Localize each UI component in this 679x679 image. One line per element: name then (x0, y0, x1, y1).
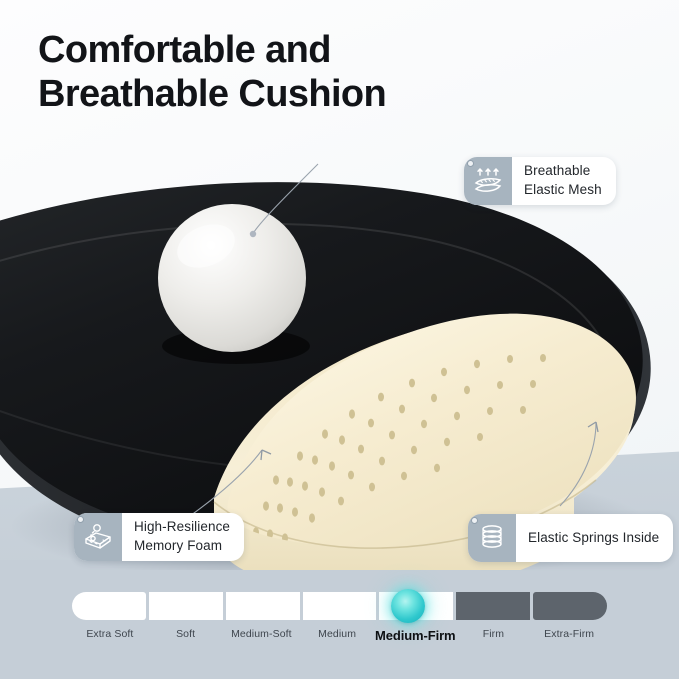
callout-label: Elastic Springs Inside (516, 514, 673, 562)
callout-label: High-Resilience Memory Foam (122, 513, 244, 561)
callout-memory-foam[interactable]: High-Resilience Memory Foam (74, 513, 244, 561)
firmness-scale-labels: Extra Soft Soft Medium-Soft Medium Mediu… (72, 628, 607, 648)
firmness-label-extra-soft[interactable]: Extra Soft (72, 628, 148, 648)
breathable-mesh-icon (464, 157, 512, 205)
callout-anchor-dot (472, 518, 477, 523)
product-illustration (0, 150, 679, 570)
pressure-ball (158, 204, 306, 352)
firmness-segment-medium[interactable] (303, 592, 377, 620)
firmness-label-soft[interactable]: Soft (148, 628, 224, 648)
firmness-segment-soft[interactable] (149, 592, 223, 620)
firmness-label-medium-soft[interactable]: Medium-Soft (224, 628, 300, 648)
firmness-selector-knob[interactable] (391, 589, 425, 623)
firmness-segment-firm[interactable] (456, 592, 530, 620)
coil-spring-icon (468, 514, 516, 562)
firmness-label-extra-firm[interactable]: Extra-Firm (531, 628, 607, 648)
leader-anchor-mesh (250, 231, 256, 237)
callout-anchor-dot (78, 517, 83, 522)
callout-breathable-mesh[interactable]: Breathable Elastic Mesh (464, 157, 616, 205)
firmness-segment-extra-firm[interactable] (533, 592, 607, 620)
firmness-segment-medium-soft[interactable] (226, 592, 300, 620)
firmness-label-firm[interactable]: Firm (456, 628, 532, 648)
product-feature-graphic: Comfortable and Breathable Cushion (0, 0, 679, 679)
callout-elastic-springs[interactable]: Elastic Springs Inside (468, 514, 673, 562)
firmness-label-medium-firm[interactable]: Medium-Firm (375, 628, 456, 648)
firmness-label-medium[interactable]: Medium (299, 628, 375, 648)
memory-foam-icon (74, 513, 122, 561)
callout-anchor-dot (468, 161, 473, 166)
firmness-scale-track[interactable] (72, 592, 607, 620)
firmness-segment-extra-soft[interactable] (72, 592, 146, 620)
callout-label: Breathable Elastic Mesh (512, 157, 616, 205)
page-title: Comfortable and Breathable Cushion (38, 28, 598, 117)
